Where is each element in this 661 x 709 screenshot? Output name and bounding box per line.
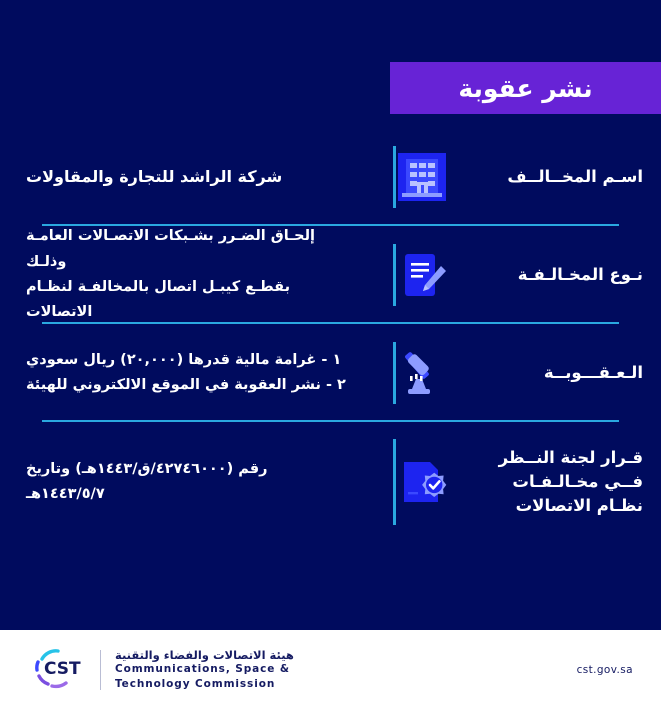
building-icon <box>396 151 448 203</box>
footer: CST هيئة الاتصالات والفضاء والتقنية Comm… <box>0 630 661 709</box>
row-label-text: الـعـقـــوبــة <box>464 361 643 385</box>
brand-divider <box>100 650 101 690</box>
row-value-cell: رقم (٤٢٧٤٦٠٠٠/ق/١٤٤٣هـ) وتاريخ ١٤٤٣/٥/٧ه… <box>0 457 393 508</box>
column-separator <box>393 439 396 525</box>
brand-names: هيئة الاتصالات والفضاء والتقنية Communic… <box>115 648 294 690</box>
cst-logo-icon: CST <box>28 646 86 694</box>
page-title: نشر عقوبة <box>458 76 592 101</box>
gavel-icon <box>396 347 448 399</box>
row-label-text: اسـم المخــالــف <box>464 165 643 189</box>
violator-name-value: شركة الراشد للتجارة والمقاولات <box>26 163 282 191</box>
organization-name-en-line2: Technology Commission <box>115 678 294 691</box>
organization-name-ar: هيئة الاتصالات والفضاء والتقنية <box>115 648 294 662</box>
svg-text:CST: CST <box>44 659 81 679</box>
column-separator <box>393 342 396 404</box>
footer-website-url[interactable]: cst.gov.sa <box>577 664 633 676</box>
brand-block: CST هيئة الاتصالات والفضاء والتقنية Comm… <box>28 646 294 694</box>
table-row-decision: قـرار لجنة النــظر فــي مخـالـفـات نظـام… <box>0 422 661 542</box>
row-label-cell: قـرار لجنة النــظر فــي مخـالـفـات نظـام… <box>396 446 661 518</box>
header-zone: نشر عقوبة <box>0 0 661 128</box>
row-label-text: نـوع المخـالـفـة <box>464 263 643 287</box>
column-separator <box>393 146 396 208</box>
table-row-violator-name: اسـم المخــالــف شركة الراشد للتجارة وال… <box>0 128 661 226</box>
details-table: اسـم المخــالــف شركة الراشد للتجارة وال… <box>0 128 661 630</box>
row-value-cell: ١ - غرامة مالية قدرها (٢٠,٠٠٠) ريال سعود… <box>0 348 393 399</box>
row-label-text: قـرار لجنة النــظر فــي مخـالـفـات نظـام… <box>464 446 643 518</box>
document-pen-icon <box>396 249 448 301</box>
violation-type-value: إلحـاق الضـرر بشـبكات الاتصـالات العامـة… <box>26 224 351 326</box>
row-label-cell: نـوع المخـالـفـة <box>396 249 661 301</box>
sanction-publication-poster: نشر عقوبة <box>0 0 661 709</box>
row-value-cell: شركة الراشد للتجارة والمقاولات <box>0 163 393 191</box>
organization-name-en-line1: Communications, Space & <box>115 663 294 676</box>
row-label-cell: اسـم المخــالــف <box>396 151 661 203</box>
row-value-cell: إلحـاق الضـرر بشـبكات الاتصـالات العامـة… <box>0 224 393 326</box>
penalty-value: ١ - غرامة مالية قدرها (٢٠,٠٠٠) ريال سعود… <box>26 348 346 399</box>
decision-number-value: رقم (٤٢٧٤٦٠٠٠/ق/١٤٤٣هـ) وتاريخ ١٤٤٣/٥/٧ه… <box>26 457 351 508</box>
column-separator <box>393 244 396 306</box>
table-row-violation-type: نـوع المخـالـفـة إلحـاق الضـرر بشـبكات ا… <box>0 226 661 324</box>
table-row-penalty: الـعـقـــوبــة ١ - غرامة مالية قدرها (٢٠… <box>0 324 661 422</box>
title-banner: نشر عقوبة <box>390 62 661 114</box>
row-label-cell: الـعـقـــوبــة <box>396 347 661 399</box>
document-check-icon <box>396 456 448 508</box>
